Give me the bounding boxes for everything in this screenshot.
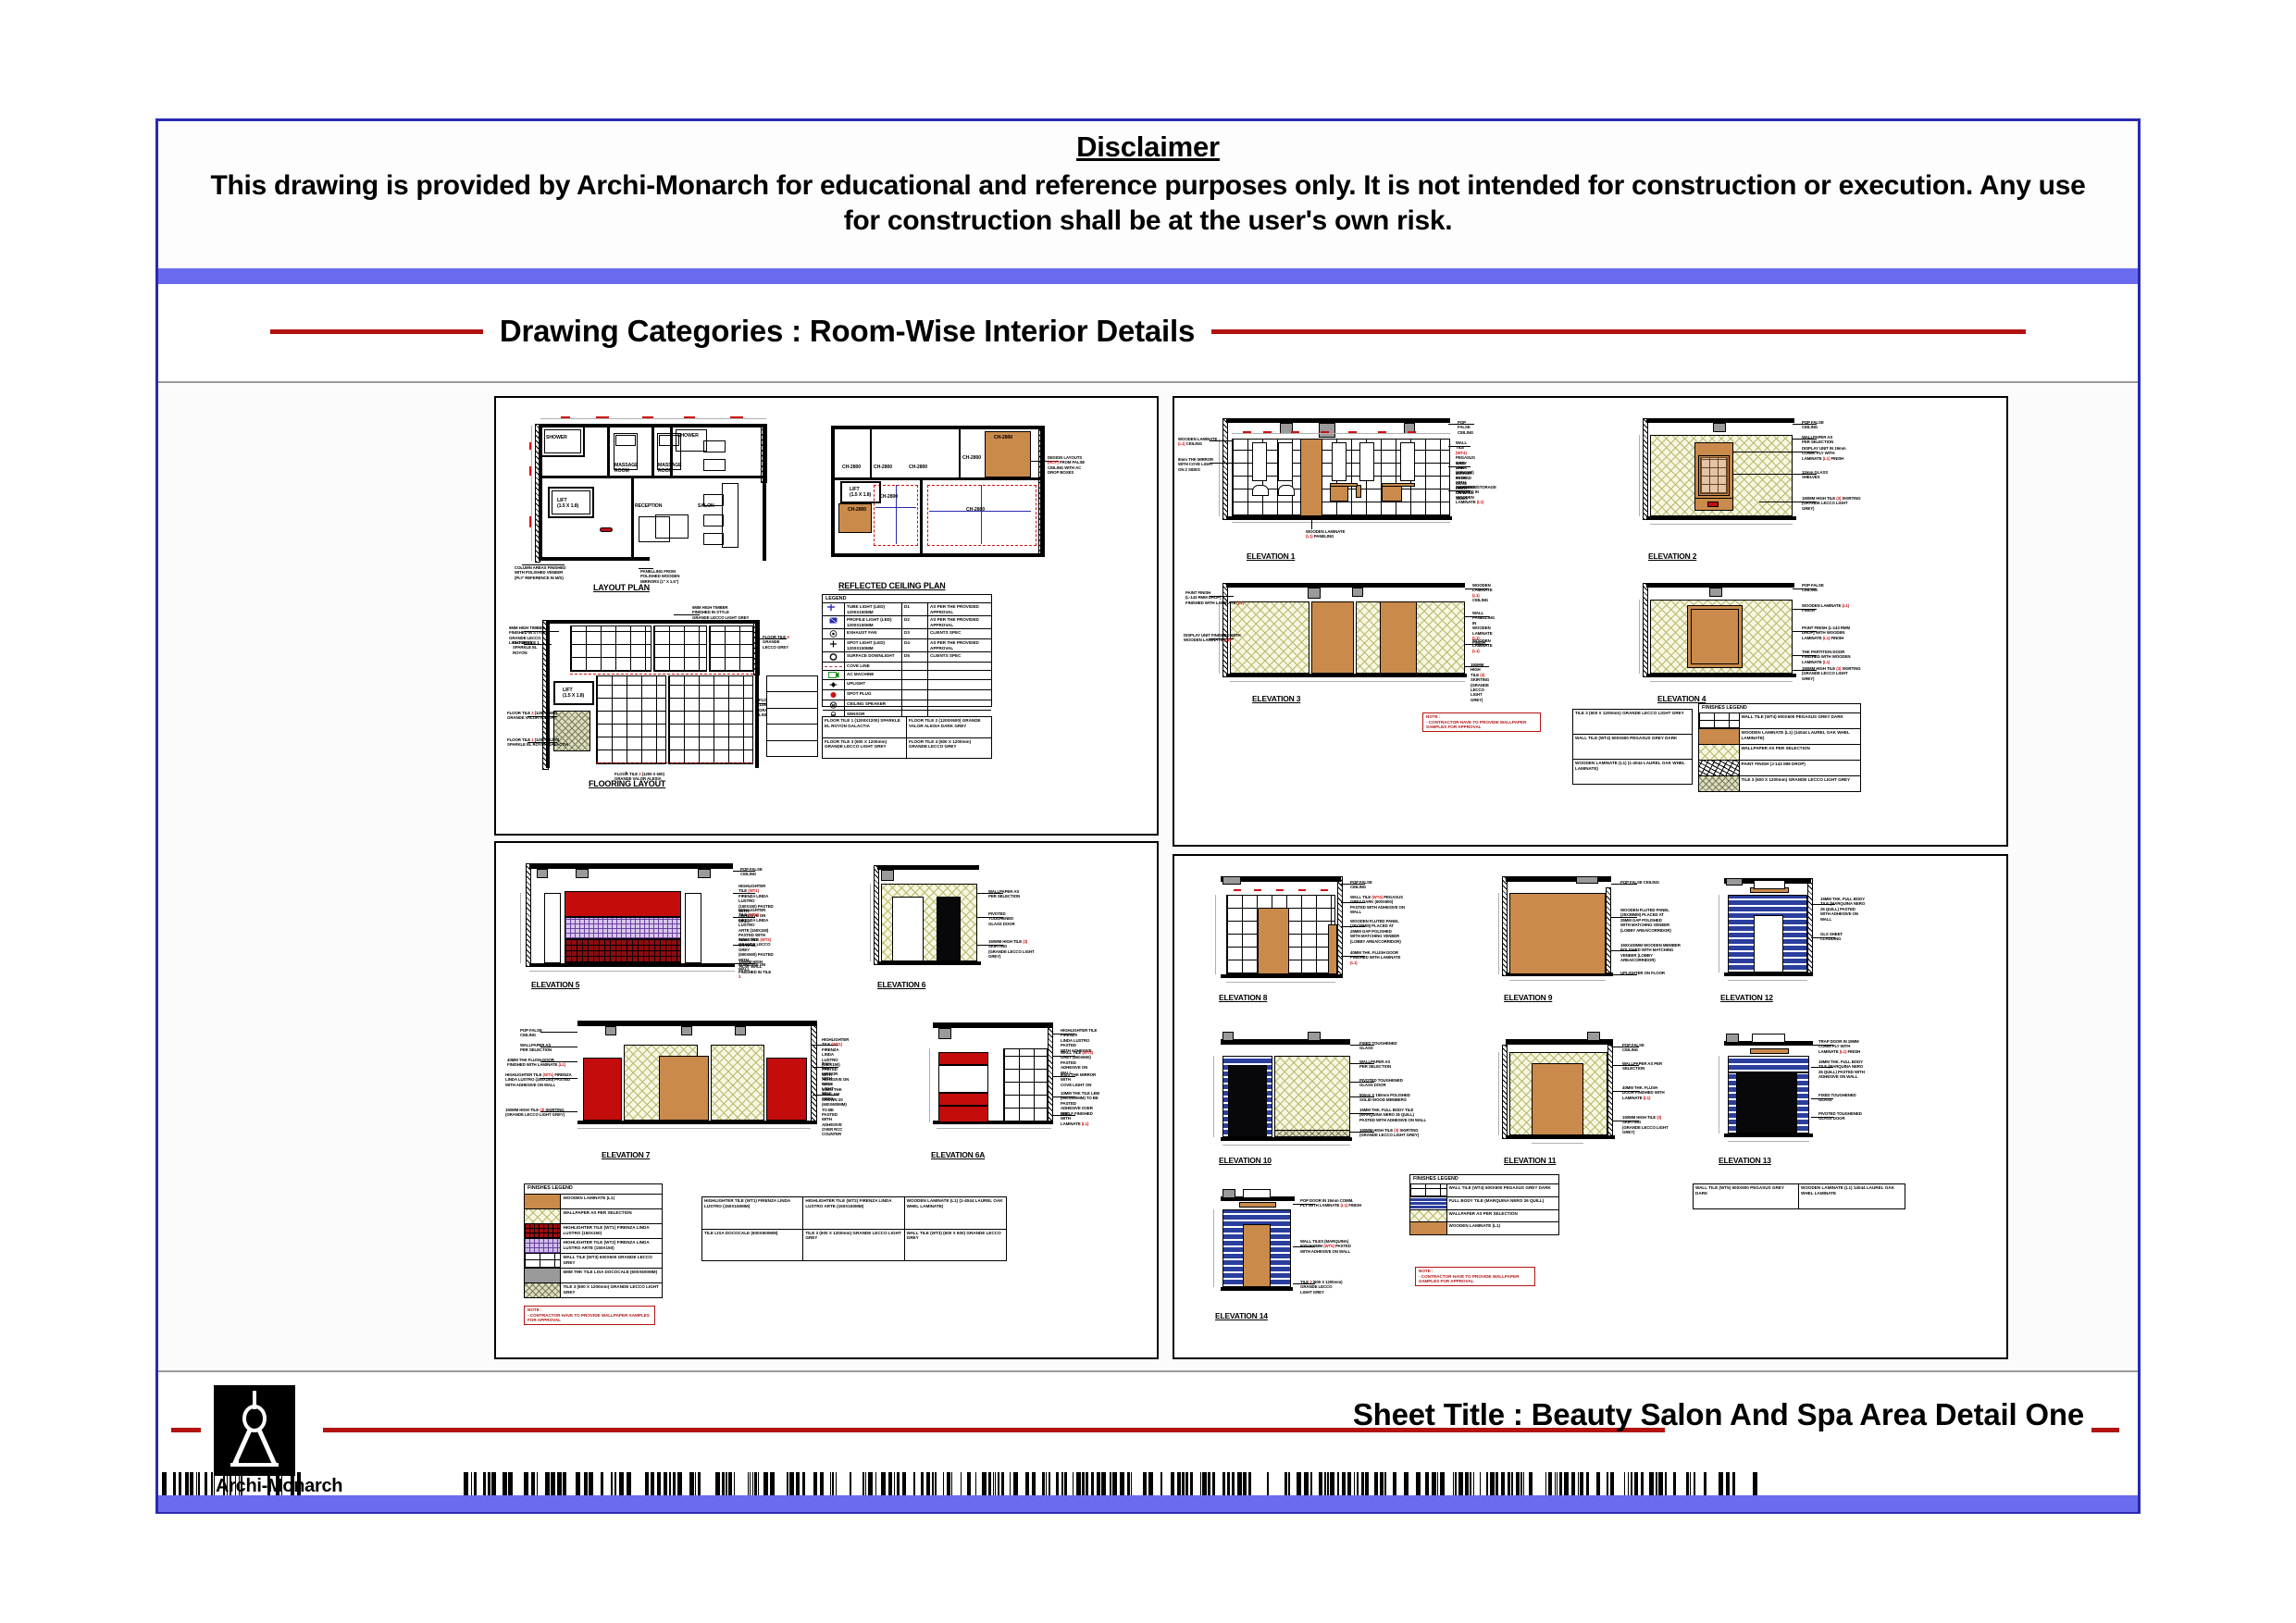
cove-line-icon <box>823 663 845 670</box>
elevation-12-drawing: 15MM THK. FULL BODY TILE (MARQUINA NERO … <box>1711 869 1915 989</box>
finish-desc: HIGHLIGHTER TILE (WT1) FIRENZA LINDA LUS… <box>561 1224 662 1238</box>
flooring-layout-label: FLOORING LAYOUT <box>589 779 665 788</box>
legend-remark: CLIENTS SPEC <box>928 652 991 662</box>
sheet-footer: Sheet Title : Beauty Salon And Spa Area … <box>158 1372 2138 1511</box>
elevation-1-drawing: WOODEN LAMINATE (L1) CEILING 8mm THK MIR… <box>1210 413 1469 524</box>
spot-light-icon <box>823 639 845 651</box>
elevation-11-label: ELEVATION 11 <box>1504 1156 1556 1165</box>
elevation-4-drawing: POP FALSE CEILING WOODEN LAMINATE (L1) F… <box>1630 574 1861 685</box>
finishes-legend-row: WALLPAPER AS PER SELECTION <box>1699 745 1860 761</box>
finish-desc: WALLPAPER AS PER SELECTION <box>1740 745 1861 760</box>
finishes-legend-row: WOODEN LAMINATE (L1) (14044 LAUREL OAK W… <box>1699 729 1860 745</box>
ceiling-speaker-icon <box>823 700 845 710</box>
tile-size: (600 X 1200mm) <box>854 739 887 744</box>
plans-panel: LIFT (1.5 X 1.8) <box>494 396 1159 836</box>
finishes-legend-row: WALL TILE (WT4) 600X600 PEGASUS GREY DAR… <box>1410 1184 1558 1197</box>
spec-cell: TILE 3 (600 X 1200mm) GRANDE LECCO LIGHT… <box>1573 710 1692 734</box>
tile-desc: GRANDE LECCO LIGHT GREY <box>825 744 887 749</box>
legend-desc: EXHAUST FAN <box>845 629 902 638</box>
elevation-11-drawing: POP FALSE CEILING WALLPAPER AS PER SELEC… <box>1493 1032 1696 1152</box>
spot-plug-icon <box>823 690 845 700</box>
misc-legend-table <box>766 675 818 757</box>
finishes-legend-row: WALLPAPER AS PER SELECTION <box>1410 1210 1558 1223</box>
flooring-layout-drawing: LIFT (1.5 X 1.8) 6MM HIGH TIMBER FINISHE… <box>524 603 801 779</box>
legend-row: SURFACE DOWNLIGHT D5 CLIENTS SPEC <box>823 652 991 663</box>
ac-machine-icon <box>823 671 845 679</box>
tile-code: FLOOR TILE 1 <box>825 718 853 723</box>
swatch-wall-tile-wt3 <box>525 1254 561 1268</box>
canvas-top-rule <box>158 381 2138 383</box>
swatch-wooden-laminate <box>525 1195 561 1208</box>
wallpaper-note-box: NOTE : - CONTRACTOR HAVE TO PROVIDE WALL… <box>524 1306 655 1325</box>
legend-desc: COVE LINE <box>845 663 902 670</box>
surface-downlight-icon <box>823 652 845 662</box>
finish-desc: WALL TILE (WT3) 600X600 GRANDE LECCO GRE… <box>561 1254 662 1268</box>
legend-remark: CLIENTS SPEC <box>928 629 991 638</box>
elevation-8-label: ELEVATION 8 <box>1219 993 1267 1002</box>
category-rule-left <box>270 329 483 334</box>
elevation-7-label: ELEVATION 7 <box>602 1150 650 1159</box>
legend-tag: D3 <box>902 629 928 638</box>
elevations-panel-lower-right: POP FALSE CEILING WALL TILE (WT4) PEGASU… <box>1173 854 2008 1359</box>
elevations-panel-upper: WOODEN LAMINATE (L1) CEILING 8mm THK MIR… <box>1173 396 2008 847</box>
legend-desc: SURFACE DOWNLIGHT <box>845 652 902 662</box>
legend-row: COVE LINE <box>823 663 991 671</box>
legend-desc: UPLIGHT <box>845 680 902 689</box>
finish-desc: HIGHLIGHTER TILE (WT2) FIRENZA LINDA LUS… <box>561 1239 662 1253</box>
legend-row: EXHAUST FAN D3 CLIENTS SPEC <box>823 629 991 639</box>
elevations-panel-lower-left: POP FALSE CEILING HIGHLIGHTER TILE (WT1)… <box>494 841 1159 1359</box>
swatch-highlighter-tile-wt1 <box>525 1224 561 1238</box>
spec-cell: HIGHLIGHTER TILE (WT2) FIRENZA LINDA LUS… <box>803 1197 904 1229</box>
disclaimer-title: Disclaimer <box>158 130 2138 164</box>
elevation-9-label: ELEVATION 9 <box>1504 993 1552 1002</box>
finish-desc: WOODEN LAMINATE (L1) (14044 LAUREL OAK W… <box>1740 729 1861 744</box>
finishes-legend-header: FINISHES LEGEND <box>1410 1175 1558 1183</box>
legend-tag: D4 <box>902 639 928 651</box>
spec-cell: WOODEN LAMINATE (L1) (1-4044 LAUREL OAK … <box>1573 760 1692 784</box>
layout-plan-drawing: LIFT (1.5 X 1.8) <box>522 415 800 572</box>
elevation-6a-drawing: HIGHLIGHTER TILE FIRENZA LINDA LUSTRO PA… <box>914 1015 1099 1145</box>
elevation-7-drawing: POP FALSE CEILING WALLPAPER AS PER SELEC… <box>516 1015 813 1145</box>
finishes-legend-row: 6MM THK TILE LISA DOCOCALE (600X600MM) <box>525 1269 662 1283</box>
ceiling-symbol-legend-table: LEGEND TUBE LIGHT (LED) 1200X150MM D1 AS… <box>822 594 992 707</box>
swatch-tile-3 <box>1699 776 1740 791</box>
elevation-14-label: ELEVATION 14 <box>1215 1311 1268 1320</box>
elevation-13-drawing: TRAP DOOR IN 19MM COMM PLY WITH LAMINATE… <box>1711 1032 1915 1152</box>
swatch-wooden-laminate <box>1410 1222 1447 1234</box>
spec-cell: TILE LISA DOCOCALE (600X600MM) <box>702 1230 803 1261</box>
lower-right-spec-table: WALL TILE (WT5) 600X600 PEGASUS GREY DAR… <box>1693 1183 1905 1209</box>
finishes-legend-row: HIGHLIGHTER TILE (WT2) FIRENZA LINDA LUS… <box>525 1239 662 1254</box>
spec-cell: HIGHLIGHTER TILE (WT1) FIRENZA LINDA LUS… <box>702 1197 803 1229</box>
elevation-9-drawing: POP FALSE CEILING WOODEN FLUTED PANEL (2… <box>1493 869 1696 989</box>
finish-desc: WOODEN LAMINATE (L1) <box>561 1195 662 1208</box>
disclaimer-text: This drawing is provided by Archi-Monarc… <box>158 168 2138 240</box>
finishes-legend-row: FULL BODY TILE (MARQUINA NERO 26 QUILL) <box>1410 1197 1558 1210</box>
legend-row: AC MACHINE <box>823 671 991 680</box>
finish-desc: 6MM THK TILE LISA DOCOCALE (600X600MM) <box>561 1269 662 1282</box>
sheet-title: Sheet Title : Beauty Salon And Spa Area … <box>1353 1397 2084 1432</box>
finishes-legend-row: TILE 3 (600 X 1200mm) GRANDE LECCO LIGHT… <box>1699 776 1860 791</box>
tile-size: (600 X 1200mm) <box>938 739 971 744</box>
elevation-5-label: ELEVATION 5 <box>531 980 579 989</box>
swatch-tile-lisa <box>525 1269 561 1282</box>
swatch-tile-3 <box>525 1283 561 1297</box>
elevation-12-label: ELEVATION 12 <box>1720 993 1773 1002</box>
tile-size: (1200X1200) <box>854 718 879 723</box>
disclaimer-block: Disclaimer This drawing is provided by A… <box>158 121 2138 268</box>
finishes-legend-row: WALLPAPER AS PER SELECTION <box>525 1209 662 1224</box>
tube-light-icon <box>823 603 845 615</box>
footer-rule-left <box>171 1428 201 1432</box>
floor-tile-cell: FLOOR TILE 1 (1200X1200) SPARKLE EL ROYO… <box>823 717 907 737</box>
upper-finishes-legend-table: FINISHES LEGEND WALL TILE (WT4) 600X600 … <box>1698 703 1861 792</box>
footer-blue-divider <box>158 1495 2138 1512</box>
swatch-wallpaper <box>1699 745 1740 760</box>
drawing-sheet: Disclaimer This drawing is provided by A… <box>0 0 2296 1623</box>
swatch-wallpaper <box>1410 1210 1447 1222</box>
elevation-13-label: ELEVATION 13 <box>1719 1156 1771 1165</box>
elevation-6-drawing: WALLPAPER AS PER SELECTION PIVOTED TOUGH… <box>864 856 1049 976</box>
legend-remark: AS PER THE PROVIDED APPROVAL <box>928 616 991 628</box>
elevation-3-label: ELEVATION 3 <box>1252 694 1300 703</box>
elevation-5-drawing: POP FALSE CEILING HIGHLIGHTER TILE (WT1)… <box>515 856 774 976</box>
swatch-marquina-tile <box>1410 1197 1447 1209</box>
legend-desc: SPOT LIGHT (LED) 1200X150MM <box>845 639 902 651</box>
layout-plan-label: LAYOUT PLAN <box>593 583 650 592</box>
finish-desc: PAINT FINISH (J-143 MM DROP) <box>1740 761 1861 775</box>
finish-desc: WALL TILE (WT4) 600X600 PEGASUS GREY DAR… <box>1740 713 1861 728</box>
spec-cell: WALL TILE (WT3) (600 X 600) GRANDE LECCO… <box>905 1230 1006 1261</box>
tile-code: FLOOR TILE 4 <box>909 739 937 744</box>
legend-desc: SPOT PLUG <box>845 690 902 700</box>
tile-size: (1200X600) <box>938 718 961 723</box>
legend-row: CEILING SPEAKER <box>823 700 991 711</box>
uplight-icon <box>823 680 845 689</box>
legend-row: SPOT PLUG <box>823 690 991 700</box>
wallpaper-note-box: NOTE : - CONTRACTOR HAVE TO PROVIDE WALL… <box>1422 712 1541 732</box>
legend-desc: PROFILE LIGHT (LED) 1200X150MM <box>845 616 902 628</box>
wallpaper-note-box: NOTE : - CONTRACTOR HAVE TO PROVIDE WALL… <box>1415 1267 1535 1286</box>
elevation-3-drawing: PAINT FINISH (L-143 RMM DROP) FINISHED W… <box>1210 574 1487 685</box>
legend-desc: TUBE LIGHT (LED) 1200X150MM <box>845 603 902 615</box>
elevation-2-drawing: POP FALSE CEILING WALLPAPER AS PER SELEC… <box>1630 413 1861 524</box>
finishes-legend-row: WALL TILE (WT3) 600X600 GRANDE LECCO GRE… <box>525 1254 662 1269</box>
finish-desc: WALLPAPER AS PER SELECTION <box>561 1209 662 1223</box>
legend-row: PROFILE LIGHT (LED) 1200X150MM D2 AS PER… <box>823 616 991 629</box>
tile-code: FLOOR TILE 2 <box>909 718 937 723</box>
lower-left-finishes-legend-table: FINISHES LEGEND WOODEN LAMINATE (L1) WAL… <box>524 1183 663 1298</box>
elevation-8-drawing: POP FALSE CEILING WALL TILE (WT4) PEGASU… <box>1206 869 1437 989</box>
swatch-paint-finish <box>1699 761 1740 775</box>
drawing-category-title: Drawing Categories : Room-Wise Interior … <box>500 314 1195 349</box>
floor-tile-cell: FLOOR TILE 4 (600 X 1200mm) GRANDE LECCO… <box>907 738 991 759</box>
elevation-2-label: ELEVATION 2 <box>1648 551 1696 561</box>
tile-code: FLOOR TILE 3 <box>825 739 853 744</box>
finishes-legend-row: WOODEN LAMINATE (L1) <box>525 1195 662 1209</box>
swatch-wall-tile-wt4 <box>1410 1184 1447 1196</box>
spec-cell: WOODEN LAMINATE (L1) 14044 LAUREL OAK WH… <box>1799 1184 1905 1208</box>
legend-row: SPOT LIGHT (LED) 1200X150MM D4 AS PER TH… <box>823 639 991 652</box>
legend-remark: AS PER THE PROVIDED APPROVAL <box>928 603 991 615</box>
legend-desc: CEILING SPEAKER <box>845 700 902 710</box>
reflected-ceiling-plan-drawing: LIFT (1.5 X 1.8) CH-2800 CH-2800 CH-2800… <box>818 415 1096 572</box>
finish-desc: WOODEN LAMINATE (L1) <box>1447 1222 1559 1234</box>
spec-cell: TILE 3 (600 X 1200mm) GRANDE LECCO LIGHT… <box>803 1230 904 1261</box>
legend-row: TUBE LIGHT (LED) 1200X150MM D1 AS PER TH… <box>823 603 991 616</box>
elevation-10-label: ELEVATION 10 <box>1219 1156 1272 1165</box>
legend-row: UPLIGHT <box>823 680 991 690</box>
swatch-wall-tile-wt4 <box>1699 713 1740 728</box>
elevation-6-label: ELEVATION 6 <box>877 980 925 989</box>
floor-tile-cell: FLOOR TILE 2 (1200X600) GRANDE VALOR ALE… <box>907 717 991 737</box>
finish-desc: TILE 3 (600 X 1200mm) GRANDE LECCO LIGHT… <box>561 1283 662 1297</box>
legend-tag: D5 <box>902 652 928 662</box>
finishes-legend-row: WALL TILE (WT4) 600X600 PEGASUS GREY DAR… <box>1699 713 1860 729</box>
compass-divider-icon <box>214 1385 295 1476</box>
finishes-legend-row: PAINT FINISH (J-143 MM DROP) <box>1699 761 1860 776</box>
profile-light-icon <box>823 616 845 628</box>
tile-desc: GRANDE LECCO GREY <box>909 744 957 749</box>
finishes-legend-row: HIGHLIGHTER TILE (WT1) FIRENZA LINDA LUS… <box>525 1224 662 1239</box>
exhaust-fan-icon <box>823 629 845 638</box>
elevation-14-drawing: POP DOOR IN 19mm COMM. PLY WITH LAMINATE… <box>1206 1187 1409 1307</box>
spec-cell: WOODEN LAMINATE (L1) (1-4044 LAUREL OAK … <box>905 1197 1006 1229</box>
swatch-wooden-laminate <box>1699 729 1740 744</box>
finishes-legend-header: FINISHES LEGEND <box>1699 704 1860 712</box>
finish-desc: WALLPAPER AS PER SELECTION <box>1447 1210 1559 1222</box>
finishes-legend-row: TILE 3 (600 X 1200mm) GRANDE LECCO LIGHT… <box>525 1283 662 1297</box>
floor-tile-spec-table: FLOOR TILE 1 (1200X1200) SPARKLE EL ROYO… <box>822 716 992 759</box>
finish-desc: TILE 3 (600 X 1200mm) GRANDE LECCO LIGHT… <box>1740 776 1861 791</box>
lower-left-spec-table: HIGHLIGHTER TILE (WT1) FIRENZA LINDA LUS… <box>701 1196 1007 1261</box>
elevation-6a-label: ELEVATION 6A <box>931 1150 985 1159</box>
elevation-4-label: ELEVATION 4 <box>1657 694 1706 703</box>
elevation-10-drawing: FIXED TOUGHENED GLASS WALLPAPER AS PER S… <box>1206 1032 1437 1152</box>
legend-tag: D1 <box>902 603 928 615</box>
legend-remark: AS PER THE PROVIDED APPROVAL <box>928 639 991 651</box>
upper-spec-table: TILE 3 (600 X 1200mm) GRANDE LECCO LIGHT… <box>1572 709 1693 785</box>
legend-table-header: LEGEND <box>823 595 991 602</box>
spec-cell: WALL TILE (WT4) 600X600 PEGASUS GREY DAR… <box>1573 735 1692 759</box>
legend-tag: D2 <box>902 616 928 628</box>
category-rule-right <box>1211 329 2026 334</box>
finishes-legend-row: WOODEN LAMINATE (L1) <box>1410 1222 1558 1234</box>
drawing-category-row: Drawing Categories : Room-Wise Interior … <box>158 285 2138 378</box>
lower-right-finishes-legend-table: FINISHES LEGEND WALL TILE (WT4) 600X600 … <box>1409 1174 1559 1235</box>
swatch-wallpaper <box>525 1209 561 1223</box>
finish-desc: WALL TILE (WT4) 600X600 PEGASUS GREY DAR… <box>1447 1184 1559 1196</box>
header-blue-divider <box>158 268 2138 284</box>
finishes-legend-header: FINISHES LEGEND <box>525 1184 662 1194</box>
spec-cell: WALL TILE (WT5) 600X600 PEGASUS GREY DAR… <box>1694 1184 1799 1208</box>
footer-rule-right <box>2091 1428 2119 1432</box>
swatch-highlighter-tile-wt2 <box>525 1239 561 1253</box>
elevation-1-label: ELEVATION 1 <box>1247 551 1295 561</box>
legend-desc: AC MACHINE <box>845 671 902 679</box>
reflected-ceiling-plan-label: REFLECTED CEILING PLAN <box>838 581 946 590</box>
archi-monarch-logo <box>214 1385 295 1476</box>
drawing-canvas: LIFT (1.5 X 1.8) <box>158 384 2138 1369</box>
floor-tile-cell: FLOOR TILE 3 (600 X 1200mm) GRANDE LECCO… <box>823 738 907 759</box>
finish-desc: FULL BODY TILE (MARQUINA NERO 26 QUILL) <box>1447 1197 1559 1209</box>
